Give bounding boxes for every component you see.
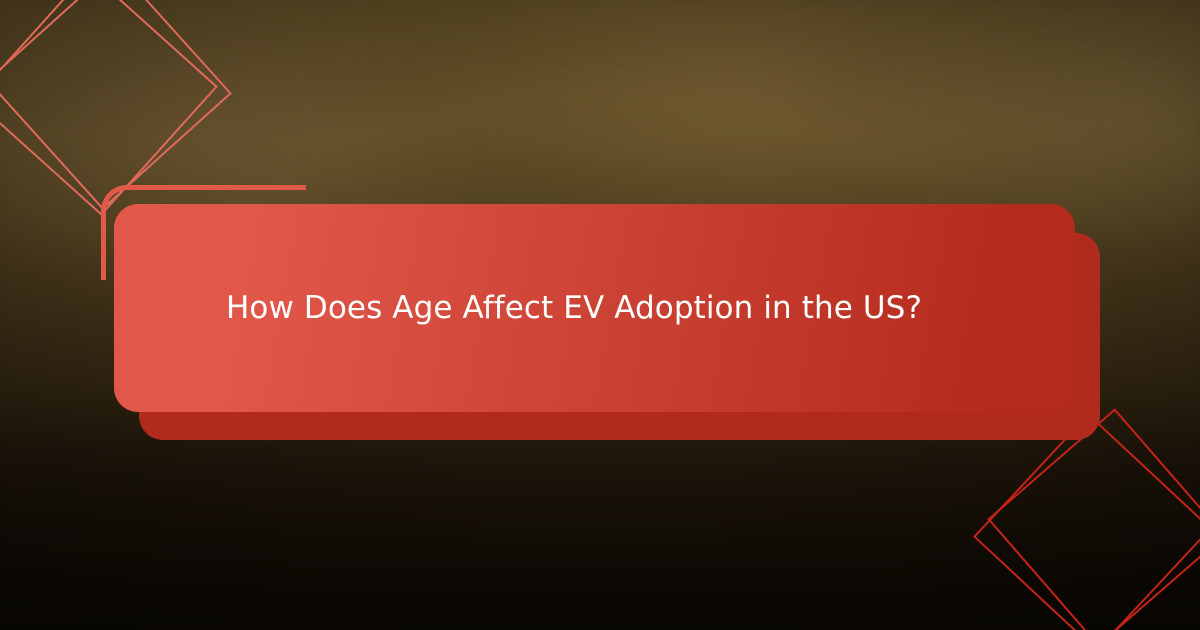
corner-bracket-cap-vertical: [101, 275, 106, 280]
page-title: How Does Age Affect EV Adoption in the U…: [114, 289, 982, 328]
corner-bracket-cap-horizontal: [301, 185, 306, 190]
title-card: How Does Age Affect EV Adoption in the U…: [114, 204, 1075, 412]
share-card-canvas: How Does Age Affect EV Adoption in the U…: [0, 0, 1200, 630]
